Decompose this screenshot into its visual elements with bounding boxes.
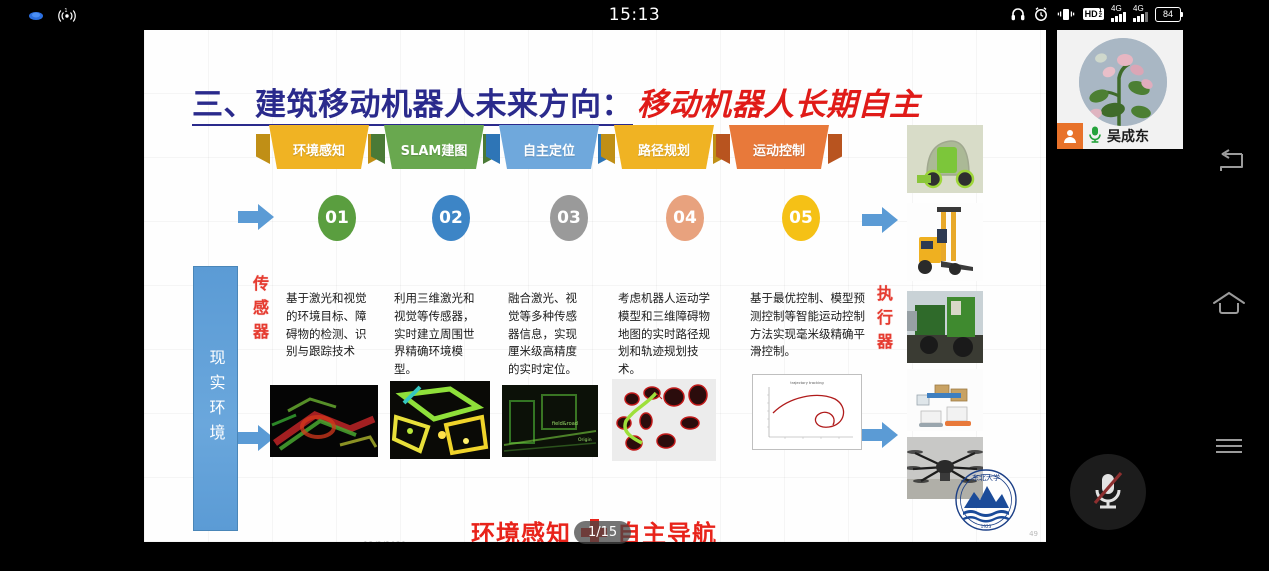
ribbon-label: 路径规划: [638, 140, 690, 159]
ribbon-label: 运动控制: [753, 140, 805, 159]
ribbon-stage-5[interactable]: 运动控制: [729, 125, 829, 172]
headphone-icon: [1010, 5, 1026, 23]
back-icon: [1213, 149, 1245, 178]
step-number-4: 04: [666, 195, 704, 241]
signal-bars-sim1-icon: 4G: [1111, 6, 1126, 22]
page-title-highlight: 移动机器人长期自主: [637, 87, 921, 123]
robot-photo-1: [907, 125, 983, 193]
mic-mute-button[interactable]: [1070, 454, 1146, 530]
trajectory-plot-image-5: trajectory tracking: [752, 374, 862, 450]
home-icon: [1212, 290, 1246, 321]
step-number-3: 03: [550, 195, 588, 241]
slogan-right-text: 自主导航: [617, 514, 717, 542]
step-description-2: 利用三维激光和视觉等传感器，实时建立周围世界精确环境模型。: [394, 290, 482, 379]
menu-icon: [1214, 436, 1244, 461]
mic-muted-icon: [1090, 470, 1126, 515]
back-button[interactable]: [1204, 138, 1254, 188]
participant-footer: 吴成东: [1057, 123, 1183, 149]
status-bar: 1 15:13 HD12: [0, 0, 1269, 30]
step-description-4: 考虑机器人运动学模型和三维障碍物地图的实时路径规划和轨迹规划技术。: [618, 290, 718, 379]
slogan-left-text: 环境感知: [471, 514, 571, 542]
menu-button[interactable]: [1204, 423, 1254, 473]
step-description-5: 基于最优控制、模型预测控制等智能运动控制方法实现毫米级精确平滑控制。: [750, 290, 870, 361]
ribbon-label: 环境感知: [293, 140, 345, 159]
robot-photo-2: [907, 203, 983, 281]
arrow-actuator-top: [862, 207, 898, 233]
real-environment-bar: 现实环境: [193, 266, 238, 531]
svg-text:field&road: field&road: [552, 421, 578, 427]
phone-screen: 1 15:13 HD12: [0, 0, 1269, 571]
alarm-clock-icon: [1033, 5, 1049, 23]
northeastern-university-logo-icon: 东北大学 1923: [954, 468, 1018, 532]
stage-ribbons: 环境感知 SLAM建图 自主定位 路径规划 运动控制: [269, 125, 869, 177]
avatar: [1079, 38, 1167, 126]
ribbon-stage-1[interactable]: 环境感知: [269, 125, 369, 172]
svg-text:trajectory tracking: trajectory tracking: [790, 381, 823, 385]
presentation-slide[interactable]: 三、建筑移动机器人未来方向：移动机器人长期自主 环境感知 SLAM建图 自主定位…: [144, 29, 1046, 542]
hd-voice-badge: HD12: [1083, 8, 1104, 20]
robot-photo-4: [907, 369, 983, 431]
localization-image-3: field&road Origin: [502, 385, 598, 457]
battery-indicator: 84: [1155, 7, 1181, 22]
step-number-1: 01: [318, 195, 356, 241]
ribbon-label: 自主定位: [523, 140, 575, 159]
step-description-1: 基于激光和视觉的环境目标、障碍物的检测、识别与跟踪技术: [286, 290, 374, 361]
page-title-main: 三、建筑移动机器人未来方向：: [192, 87, 633, 126]
person-badge-icon: [1057, 123, 1083, 149]
slide-date: 12/3/2021: [363, 541, 407, 542]
slam-map-image-2: [390, 381, 490, 459]
actuator-label: 执行器: [871, 285, 895, 357]
ribbon-label: SLAM建图: [401, 140, 468, 159]
system-navigation-bar: [1190, 30, 1269, 571]
mic-on-icon[interactable]: [1087, 125, 1103, 148]
real-environment-label: 现实环境: [204, 349, 228, 449]
svg-text:1923: 1923: [981, 524, 992, 529]
lidar-pointcloud-image-1: [270, 385, 378, 457]
arrow-sensor-bottom: [238, 425, 274, 451]
page-indicator: 1/15: [574, 521, 631, 544]
sensor-label: 传感器: [247, 275, 271, 347]
home-button[interactable]: [1204, 280, 1254, 330]
arrow-sensor-top: [238, 204, 274, 230]
status-bar-right-icons: HD12 4G 4G 84: [1010, 5, 1181, 23]
page-title: 三、建筑移动机器人未来方向：移动机器人长期自主: [192, 79, 921, 124]
slide-page-number: 49: [1029, 530, 1038, 538]
vibrate-icon: [1056, 5, 1076, 23]
arrow-actuator-bottom: [862, 422, 898, 448]
ribbon-stage-4[interactable]: 路径规划: [614, 125, 714, 172]
participant-thumbnail[interactable]: 吴成东: [1057, 30, 1183, 149]
participant-name: 吴成东: [1107, 126, 1149, 146]
step-number-5: 05: [782, 195, 820, 241]
ribbon-stage-2[interactable]: SLAM建图: [384, 125, 484, 172]
path-planning-image-4: [612, 379, 716, 461]
svg-text:东北大学: 东北大学: [972, 473, 1000, 482]
signal-bars-sim2-icon: 4G: [1133, 6, 1148, 22]
ribbon-stage-3[interactable]: 自主定位: [499, 125, 599, 172]
step-number-2: 02: [432, 195, 470, 241]
step-description-3: 融合激光、视觉等多种传感器信息，实现厘米级高精度的实时定位。: [508, 290, 588, 379]
robot-photo-3: [907, 291, 983, 363]
svg-text:Origin: Origin: [578, 437, 592, 443]
